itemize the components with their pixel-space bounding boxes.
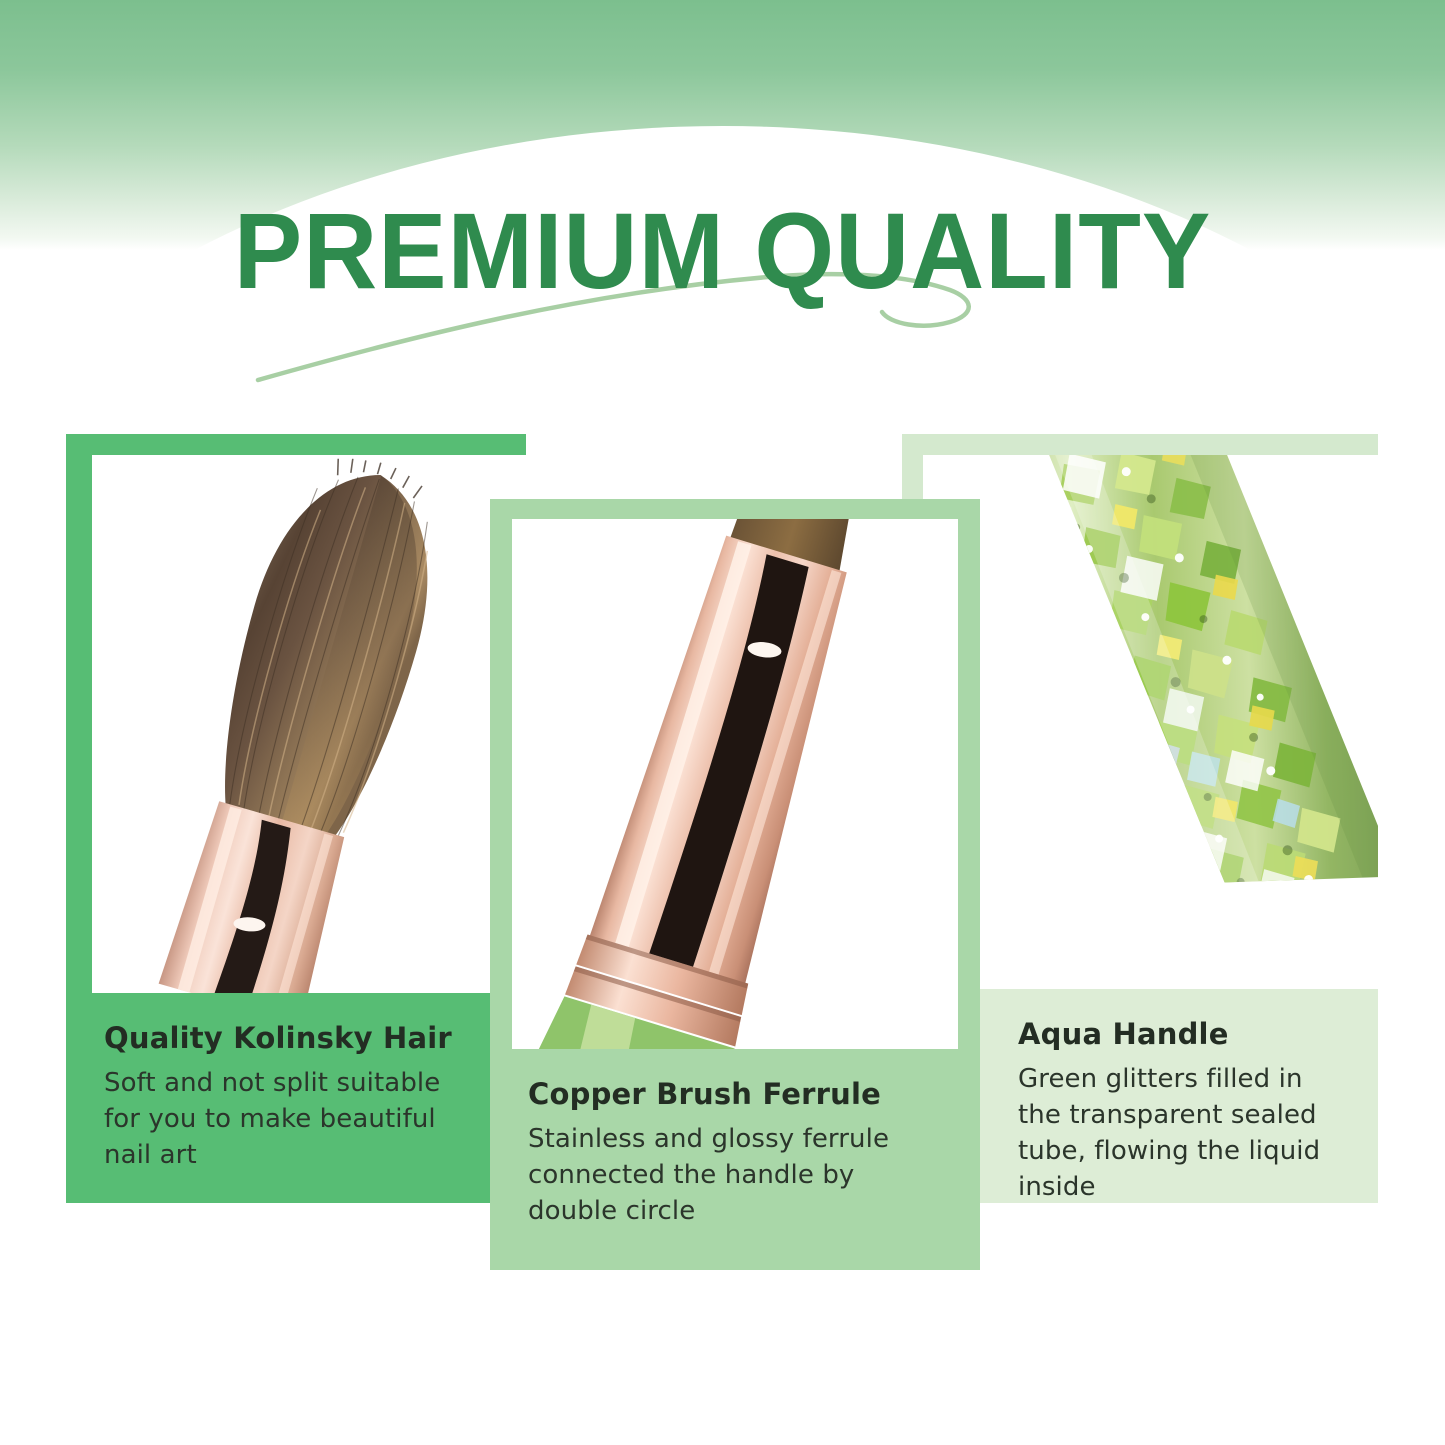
card-description: Green glitters filled in the transparent… <box>1018 1061 1344 1205</box>
feature-card-kolinsky-hair: Quality Kolinsky Hair Soft and not split… <box>66 434 526 1203</box>
card-caption: Aqua Handle Green glitters filled in the… <box>980 989 1378 1203</box>
card-title: Copper Brush Ferrule <box>528 1075 946 1113</box>
page-title-text: PREMIUM QUALITY <box>36 196 1409 306</box>
product-infographic: PREMIUM QUALITY <box>0 0 1445 1445</box>
card-title: Quality Kolinsky Hair <box>104 1019 456 1057</box>
card-photo-kolinsky-brush <box>92 455 526 993</box>
card-description: Soft and not split suitable for you to m… <box>104 1065 456 1173</box>
card-caption: Quality Kolinsky Hair Soft and not split… <box>66 993 490 1203</box>
card-description: Stainless and glossy ferrule connected t… <box>528 1121 946 1229</box>
card-photo-copper-ferrule <box>512 519 958 1049</box>
card-caption: Copper Brush Ferrule Stainless and gloss… <box>490 1049 980 1270</box>
feature-card-copper-ferrule: Copper Brush Ferrule Stainless and gloss… <box>490 499 980 1270</box>
card-title: Aqua Handle <box>1018 1015 1344 1053</box>
card-photo-glitter-handle <box>923 455 1378 989</box>
page-title: PREMIUM QUALITY <box>0 196 1445 316</box>
